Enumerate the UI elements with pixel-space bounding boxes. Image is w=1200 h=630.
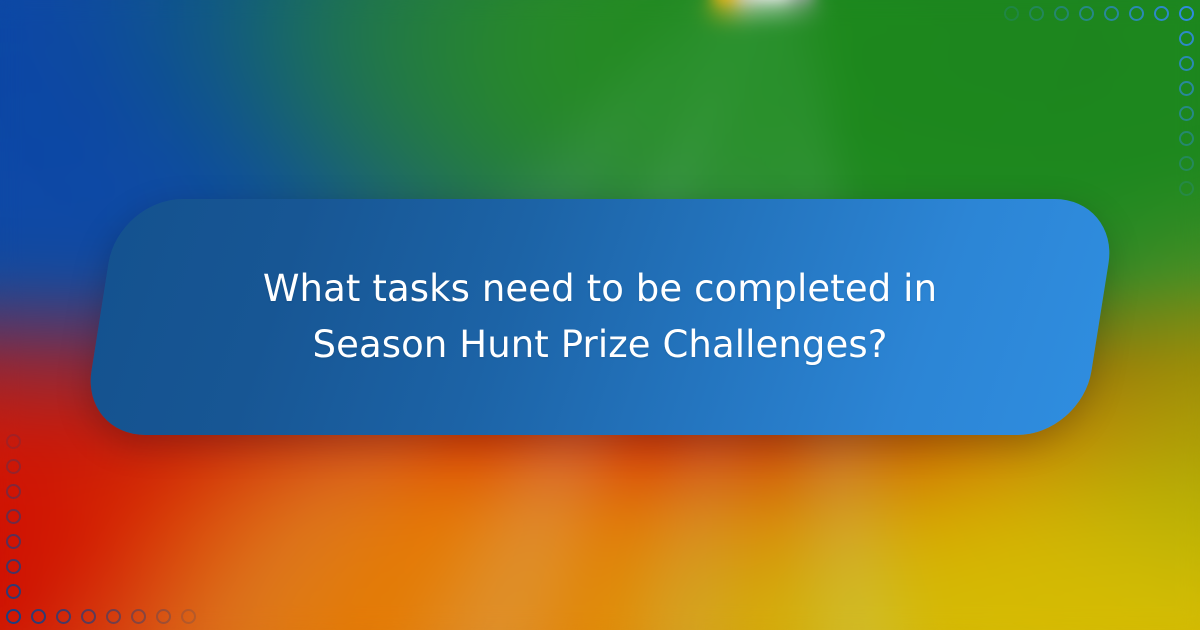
question-card-content: What tasks need to be completed in Seaso…	[100, 199, 1100, 435]
decorative-circle	[1179, 106, 1194, 121]
decorative-circle	[1104, 6, 1119, 21]
decorative-circle	[1179, 81, 1194, 96]
circle-cluster-bottom-left	[0, 420, 210, 630]
circle-cluster-top-right	[990, 0, 1200, 210]
question-text: What tasks need to be completed in Seaso…	[220, 261, 980, 373]
decorative-circle	[1179, 131, 1194, 146]
decorative-circle	[1179, 181, 1194, 196]
decorative-circle	[1179, 156, 1194, 171]
question-card: What tasks need to be completed in Seaso…	[100, 199, 1100, 435]
decorative-circle	[6, 509, 21, 524]
decorative-circle	[6, 609, 21, 624]
decorative-circle	[56, 609, 71, 624]
decorative-circle	[1154, 6, 1169, 21]
page-canvas: What tasks need to be completed in Seaso…	[0, 0, 1200, 630]
decorative-circle	[1054, 6, 1069, 21]
decorative-circle	[181, 609, 196, 624]
decorative-circle	[6, 534, 21, 549]
decorative-circle	[1079, 6, 1094, 21]
decorative-circle	[6, 484, 21, 499]
decorative-circle	[81, 609, 96, 624]
decorative-circle	[156, 609, 171, 624]
decorative-circle	[1029, 6, 1044, 21]
decorative-circle	[6, 434, 21, 449]
decorative-circle	[1179, 31, 1194, 46]
decorative-circle	[6, 459, 21, 474]
decorative-circle	[6, 584, 21, 599]
decorative-circle	[131, 609, 146, 624]
decorative-circle	[1179, 6, 1194, 21]
decorative-circle	[1179, 56, 1194, 71]
decorative-circle	[1129, 6, 1144, 21]
cropped-logo-icon	[712, 0, 816, 20]
decorative-circle	[106, 609, 121, 624]
decorative-circle	[1004, 6, 1019, 21]
decorative-circle	[31, 609, 46, 624]
decorative-circle	[6, 559, 21, 574]
